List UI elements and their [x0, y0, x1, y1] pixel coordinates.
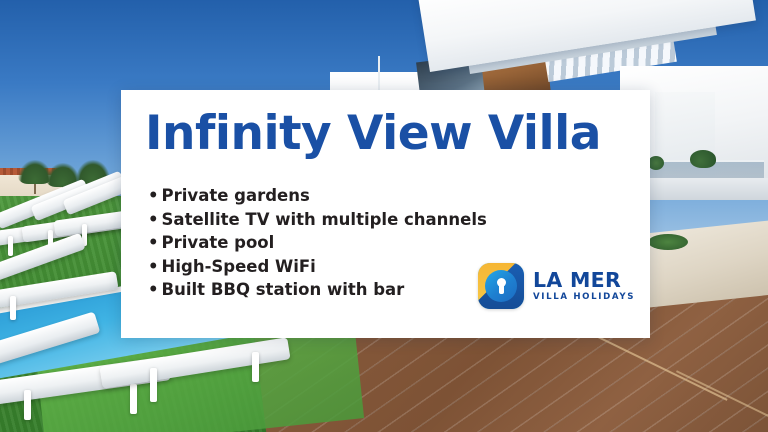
- info-card: Infinity View Villa •Private gardens •Sa…: [121, 90, 650, 338]
- list-item-label: Private pool: [162, 233, 275, 252]
- shrub: [690, 150, 716, 168]
- shrub: [648, 234, 688, 250]
- bullet-icon: •: [148, 210, 159, 229]
- shrub: [648, 156, 664, 170]
- villa-antenna-pole: [378, 56, 380, 90]
- brand-name: LA MER: [533, 270, 635, 291]
- list-item-label: Built BBQ station with bar: [162, 280, 405, 299]
- bullet-icon: •: [148, 280, 159, 299]
- bullet-icon: •: [148, 186, 159, 205]
- bullet-icon: •: [148, 233, 159, 252]
- list-item-label: Satellite TV with multiple channels: [162, 210, 487, 229]
- feature-list: •Private gardens •Satellite TV with mult…: [148, 184, 487, 302]
- brand-tagline: VILLA HOLIDAYS: [533, 291, 635, 303]
- brand-logo-text: LA MER VILLA HOLIDAYS: [533, 270, 635, 303]
- bullet-icon: •: [148, 257, 159, 276]
- list-item: •Built BBQ station with bar: [148, 278, 487, 302]
- list-item: •Private pool: [148, 231, 487, 255]
- keyhole-icon: [478, 263, 524, 309]
- list-item: •High-Speed WiFi: [148, 255, 487, 279]
- brand-logo: LA MER VILLA HOLIDAYS: [478, 263, 635, 309]
- list-item-label: Private gardens: [162, 186, 310, 205]
- list-item-label: High-Speed WiFi: [162, 257, 316, 276]
- list-item: •Satellite TV with multiple channels: [148, 208, 487, 232]
- page-title: Infinity View Villa: [145, 106, 601, 161]
- list-item: •Private gardens: [148, 184, 487, 208]
